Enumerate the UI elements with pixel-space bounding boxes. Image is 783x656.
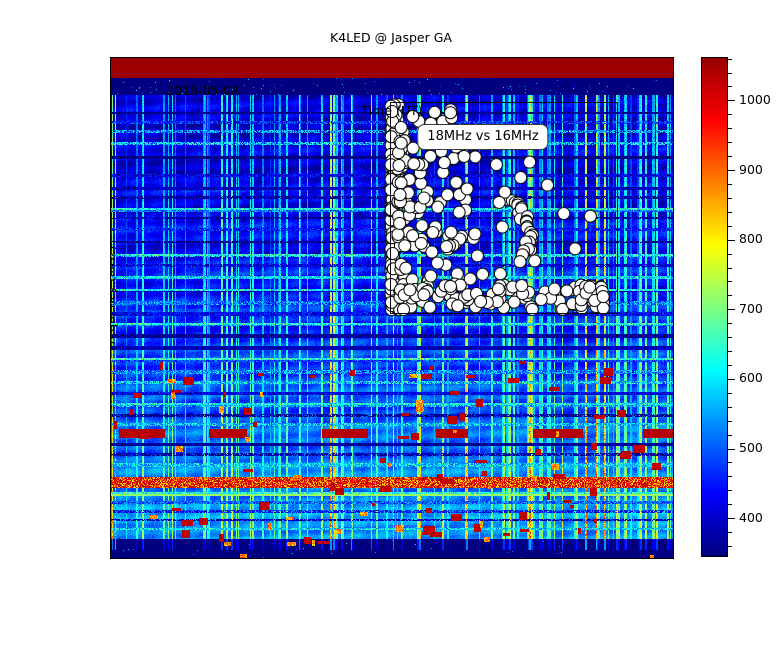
page-title: K4LED @ Jasper GA [110,30,672,45]
plot-area[interactable]: 18MHz vs 16MHz 2422201816 01:5501:5601:5… [110,57,674,559]
colorbar[interactable]: 1000900800700600500400 [701,57,728,557]
x-axis-label: Time (UT) [361,103,422,118]
spectrogram-figure: K4LED @ Jasper GA 18MHz vs 16MHz 2422201… [0,0,783,656]
colorbar-tick-label: 500 [739,440,763,455]
colorbar-tick-label: 1000 [739,92,771,107]
colorbar-gradient [701,57,728,557]
x-axis-date: 2018-05-04 [166,83,239,98]
y-axis-label: Frequency (MHz) [110,245,118,350]
colorbar-tick-label: 400 [739,510,763,525]
spectrogram-image [111,58,673,558]
colorbar-tick-label: 900 [739,162,763,177]
annotation-label: 18MHz vs 16MHz [417,124,548,150]
colorbar-tick-label: 700 [739,301,763,316]
colorbar-tick-label: 800 [739,231,763,246]
colorbar-tick-label: 600 [739,370,763,385]
